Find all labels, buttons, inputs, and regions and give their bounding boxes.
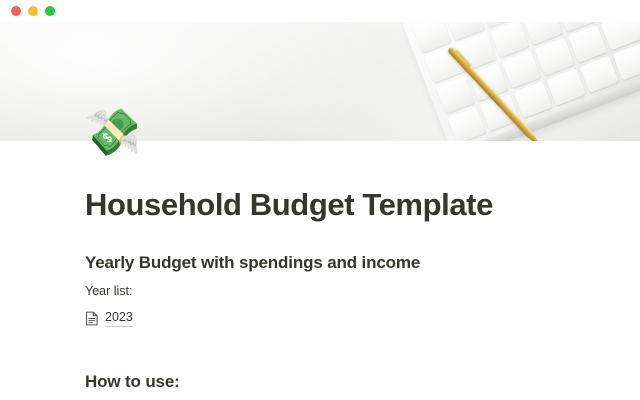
keyboard-key	[612, 42, 640, 80]
keyboard-key	[568, 25, 608, 63]
year-list-label[interactable]: Year list:	[85, 274, 585, 300]
keyboard-key	[535, 38, 575, 76]
page-body: 💸 Household Budget Template Yearly Budge…	[0, 141, 640, 400]
document-page-icon	[85, 311, 99, 326]
maximize-window-button[interactable]	[45, 6, 55, 16]
page-link-row-2023[interactable]: 2023	[85, 300, 585, 327]
page-link-2023[interactable]: 2023	[105, 309, 133, 327]
app-window: 💸 Household Budget Template Yearly Budge…	[0, 0, 640, 400]
minimize-window-button[interactable]	[28, 6, 38, 16]
page-title[interactable]: Household Budget Template	[85, 141, 585, 224]
page-content: Household Budget Template Yearly Budget …	[85, 141, 585, 400]
window-titlebar	[0, 0, 640, 22]
keyboard-key	[447, 106, 487, 141]
keyboard-key	[513, 81, 553, 119]
traffic-light-buttons	[11, 6, 55, 16]
how-to-use-paragraph[interactable]: You can see an example entry in the Expe…	[85, 393, 585, 400]
close-window-button[interactable]	[11, 6, 21, 16]
keyboard-key	[502, 50, 542, 88]
keyboard-key	[579, 55, 619, 93]
section-heading-how-to-use[interactable]: How to use:	[85, 327, 585, 393]
keyboard-key	[435, 76, 475, 114]
keyboard-key	[546, 68, 586, 106]
section-heading-yearly-budget[interactable]: Yearly Budget with spendings and income	[85, 224, 585, 274]
